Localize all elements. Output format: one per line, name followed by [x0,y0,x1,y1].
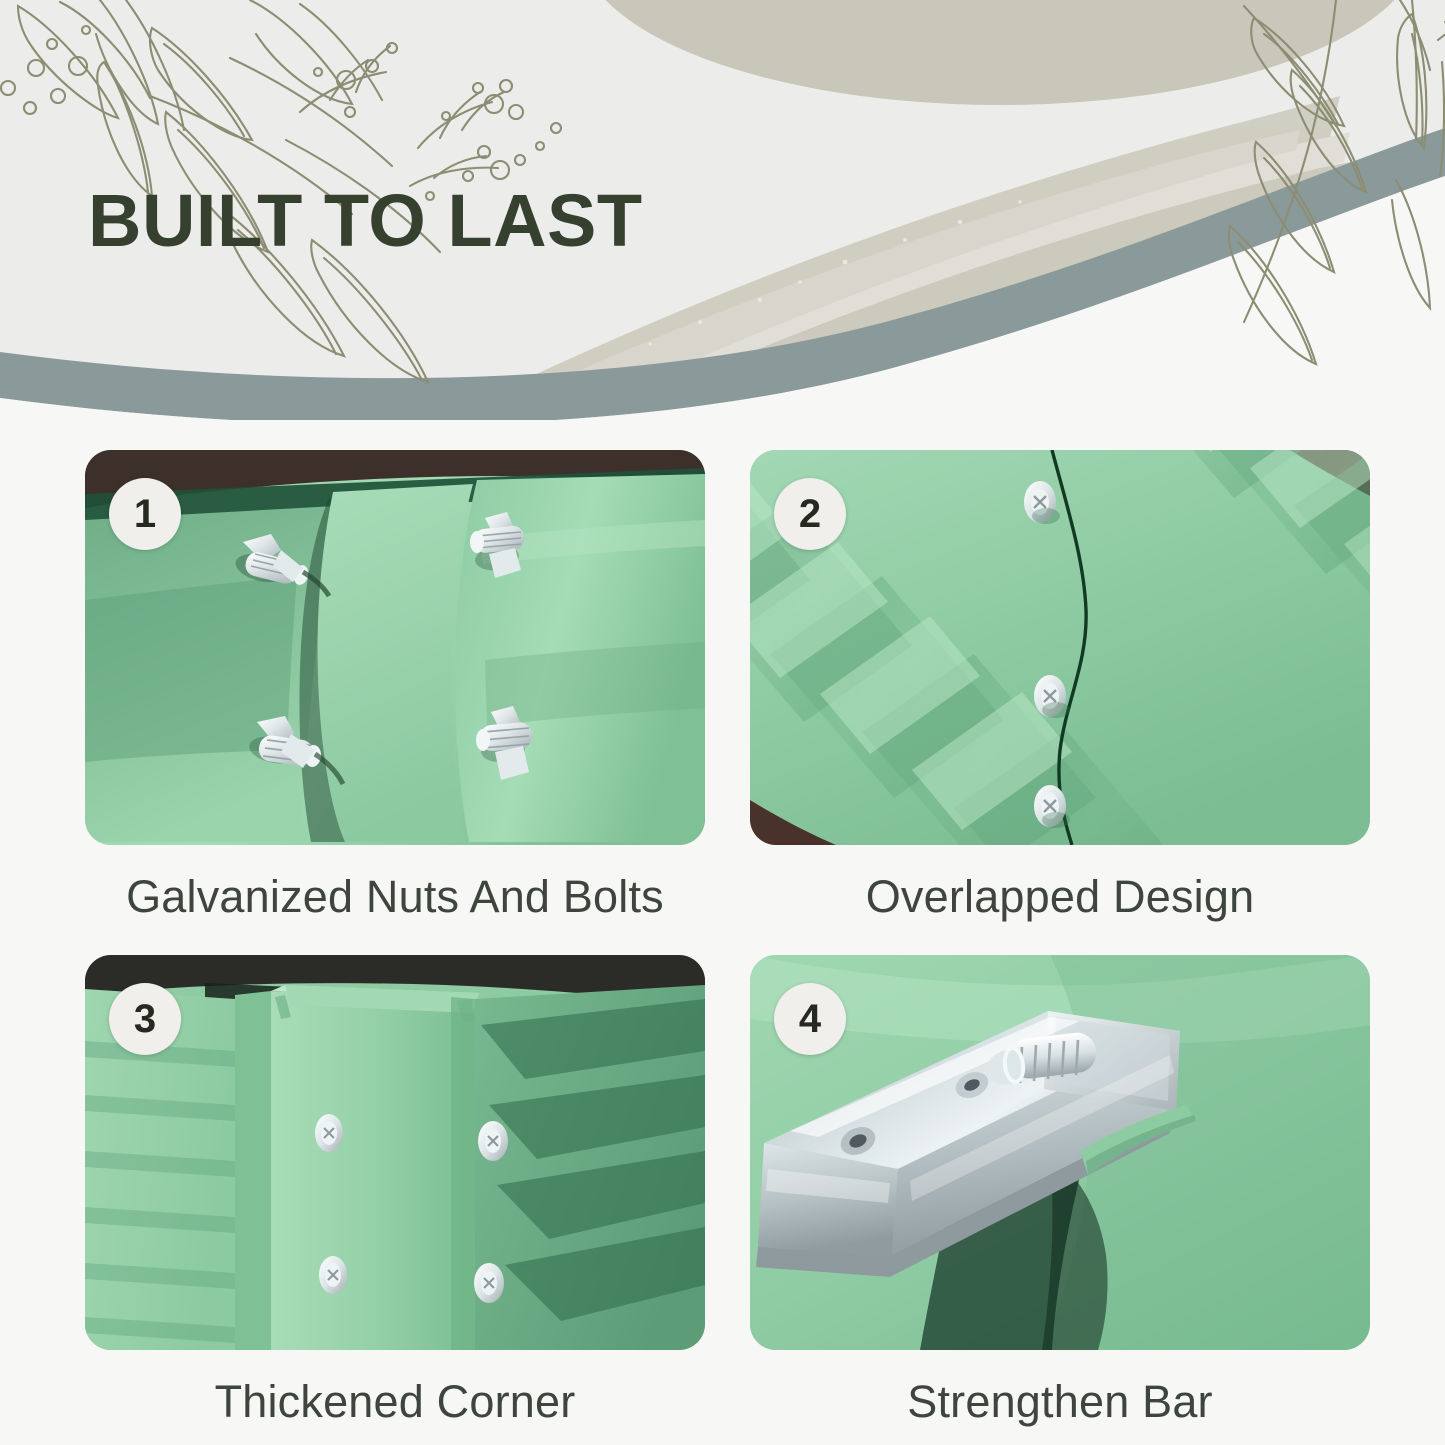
features-grid: 1 Galvanized Nuts And Bolts [0,420,1445,1445]
feature-card-1[interactable]: 1 Galvanized Nuts And Bolts [85,450,705,923]
feature-badge-4: 4 [774,983,846,1055]
feature-photo-2: 2 [750,450,1370,845]
page-title: BUILT TO LAST [88,178,643,263]
header-banner: BUILT TO LAST [0,0,1445,420]
feature-photo-4: 4 [750,955,1370,1350]
feature-caption-3: Thickened Corner [85,1376,705,1428]
feature-photo-1: 1 [85,450,705,845]
feature-card-4[interactable]: 4 Strengthen Bar [750,955,1370,1428]
feature-badge-2: 2 [774,478,846,550]
screw-left-lower-icon [319,1256,347,1294]
screw-right-lower-icon [474,1263,504,1303]
feature-card-2[interactable]: 2 Overlapped Design [750,450,1370,923]
feature-badge-1: 1 [109,478,181,550]
feature-badge-3: 3 [109,983,181,1055]
feature-photo-3: 3 [85,955,705,1350]
feature-caption-1: Galvanized Nuts And Bolts [85,871,705,923]
screw-right-upper-icon [478,1121,508,1161]
feature-card-3[interactable]: 3 Thickened Corner [85,955,705,1428]
feature-caption-4: Strengthen Bar [750,1376,1370,1428]
screw-left-upper-icon [315,1114,343,1152]
feature-caption-2: Overlapped Design [750,871,1370,923]
